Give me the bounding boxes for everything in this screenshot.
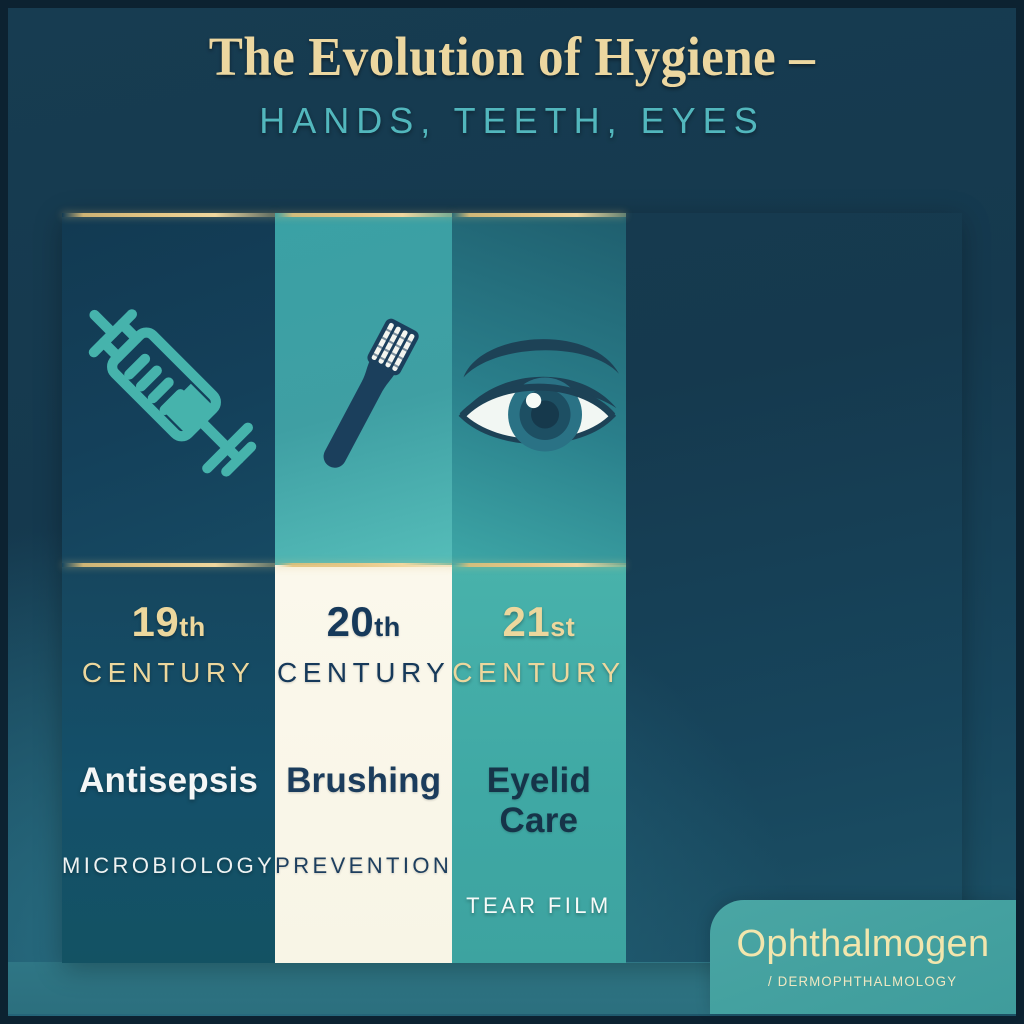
caption-cell-20th: 20th CENTURY Brushing PREVENTION bbox=[275, 565, 452, 963]
comparison-panel: 19th CENTURY Antisepsis MICROBIOLOGY bbox=[62, 213, 962, 963]
toothbrush-icon bbox=[275, 264, 452, 514]
era-number: 21 bbox=[503, 598, 551, 645]
brand-logo-badge[interactable]: Ophthalmogen / DERMOPHTHALMOLOGY bbox=[710, 900, 1016, 1014]
era-label-20th: 20th bbox=[275, 601, 452, 643]
era-number: 20 bbox=[327, 598, 375, 645]
gold-divider-top bbox=[275, 213, 452, 217]
icon-cell-eye bbox=[452, 213, 625, 565]
era-label-19th: 19th bbox=[62, 601, 275, 643]
topic-20th: Brushing bbox=[275, 761, 452, 801]
era-suffix: st bbox=[550, 612, 575, 642]
era-unit-21st: CENTURY bbox=[452, 657, 625, 689]
infographic-canvas: The Evolution of Hygiene – HANDS, TEETH,… bbox=[0, 0, 1024, 1024]
caption-cell-21st: 21st CENTURY Eyelid Care TEAR FILM bbox=[452, 565, 625, 963]
eye-icon bbox=[452, 279, 625, 499]
topic-21st: Eyelid Care bbox=[452, 761, 625, 841]
header: The Evolution of Hygiene – HANDS, TEETH,… bbox=[0, 28, 1024, 142]
gold-divider-middle bbox=[275, 563, 452, 567]
topic-19th: Antisepsis bbox=[62, 761, 275, 801]
era-suffix: th bbox=[374, 612, 400, 642]
brand-name: Ophthalmogen bbox=[737, 925, 990, 963]
brand-tagline: / DERMOPHTHALMOLOGY bbox=[768, 973, 957, 989]
tag-19th: MICROBIOLOGY bbox=[62, 853, 275, 879]
era-suffix: th bbox=[179, 612, 205, 642]
tag-21st: TEAR FILM bbox=[452, 893, 625, 919]
era-unit-20th: CENTURY bbox=[275, 657, 452, 689]
icon-cell-syringe bbox=[62, 213, 275, 565]
syringe-icon bbox=[62, 274, 275, 504]
column-19th-century: 19th CENTURY Antisepsis MICROBIOLOGY bbox=[62, 213, 275, 963]
page-title: The Evolution of Hygiene – bbox=[36, 28, 988, 86]
column-20th-century: 20th CENTURY Brushing PREVENTION bbox=[275, 213, 452, 963]
era-unit-19th: CENTURY bbox=[62, 657, 275, 689]
caption-cell-19th: 19th CENTURY Antisepsis MICROBIOLOGY bbox=[62, 565, 275, 963]
gold-divider-middle bbox=[452, 563, 625, 567]
page-subtitle: HANDS, TEETH, EYES bbox=[0, 100, 1024, 142]
era-number: 19 bbox=[131, 598, 179, 645]
gold-divider-top bbox=[62, 213, 275, 217]
tag-20th: PREVENTION bbox=[275, 853, 452, 879]
gold-divider-top bbox=[452, 213, 625, 217]
column-21st-century: 21st CENTURY Eyelid Care TEAR FILM bbox=[452, 213, 625, 963]
icon-cell-toothbrush bbox=[275, 213, 452, 565]
gold-divider-middle bbox=[62, 563, 275, 567]
era-label-21st: 21st bbox=[452, 601, 625, 643]
